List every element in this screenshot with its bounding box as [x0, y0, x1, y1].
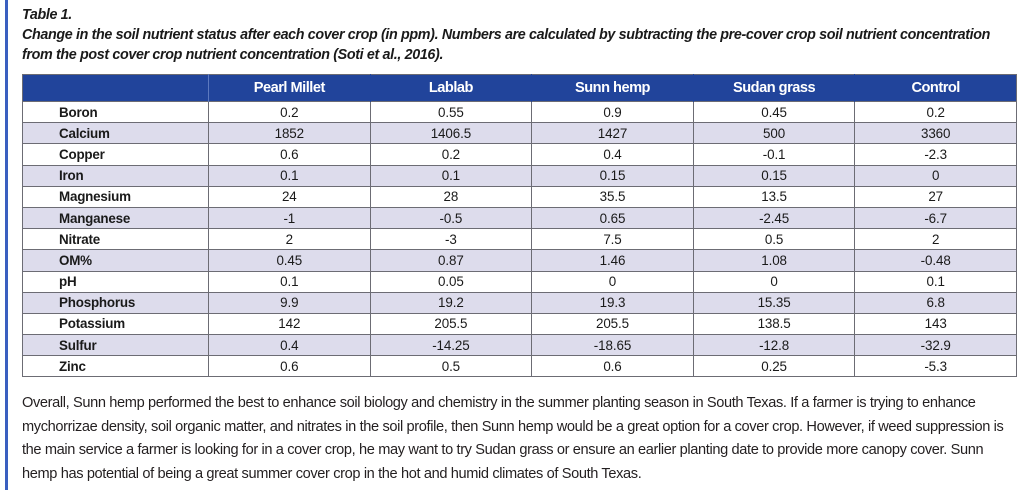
table-cell: 0.1: [370, 165, 532, 186]
table-cell: 0.05: [370, 271, 532, 292]
table-cell: -5.3: [855, 356, 1017, 377]
nutrient-change-table: Pearl Millet Lablab Sunn hemp Sudan gras…: [22, 74, 1017, 377]
table-row: Copper0.60.20.4-0.1-2.3: [23, 144, 1017, 165]
table-cell: -32.9: [855, 335, 1017, 356]
table-cell: 1427: [532, 123, 694, 144]
row-label: Boron: [23, 102, 209, 123]
table-cell: 0.4: [209, 335, 371, 356]
table-cell: 19.3: [532, 292, 694, 313]
table-cell: -0.5: [370, 207, 532, 228]
row-label: Manganese: [23, 207, 209, 228]
column-header-pearl-millet: Pearl Millet: [209, 75, 371, 102]
table-cell: -0.1: [693, 144, 855, 165]
table-cell: 0.15: [693, 165, 855, 186]
table-cell: 0.6: [209, 356, 371, 377]
row-label: OM%: [23, 250, 209, 271]
table-cell: 0.2: [855, 102, 1017, 123]
table-cell: 0.87: [370, 250, 532, 271]
table-cell: -6.7: [855, 207, 1017, 228]
table-cell: 0.45: [693, 102, 855, 123]
table-cell: 0: [532, 271, 694, 292]
table-cell: 2: [209, 229, 371, 250]
table-cell: 500: [693, 123, 855, 144]
table-header: Pearl Millet Lablab Sunn hemp Sudan gras…: [23, 75, 1017, 102]
table-cell: 0.5: [370, 356, 532, 377]
left-margin-rule: [5, 0, 8, 490]
table-row: Nitrate2-37.50.52: [23, 229, 1017, 250]
table-body: Boron0.20.550.90.450.2Calcium18521406.51…: [23, 102, 1017, 377]
table-cell: 205.5: [532, 313, 694, 334]
table-row: Phosphorus9.919.219.315.356.8: [23, 292, 1017, 313]
table-cell: 0.9: [532, 102, 694, 123]
summary-paragraph: Overall, Sunn hemp performed the best to…: [22, 392, 1014, 486]
table-row: Calcium18521406.514275003360: [23, 123, 1017, 144]
table-row: Zinc0.60.50.60.25-5.3: [23, 356, 1017, 377]
table-header-row: Pearl Millet Lablab Sunn hemp Sudan gras…: [23, 75, 1017, 102]
table-row: Sulfur0.4-14.25-18.65-12.8-32.9: [23, 335, 1017, 356]
table-cell: -18.65: [532, 335, 694, 356]
table-row: Manganese-1-0.50.65-2.45-6.7: [23, 207, 1017, 228]
row-label: Phosphorus: [23, 292, 209, 313]
table-cell: 0.1: [209, 165, 371, 186]
row-label: Calcium: [23, 123, 209, 144]
table-cell: 0.4: [532, 144, 694, 165]
table-cell: 27: [855, 186, 1017, 207]
column-header-blank: [23, 75, 209, 102]
table-cell: 1406.5: [370, 123, 532, 144]
table-cell: 19.2: [370, 292, 532, 313]
row-label: Zinc: [23, 356, 209, 377]
document-page: Table 1. Change in the soil nutrient sta…: [0, 0, 1030, 490]
table-cell: -3: [370, 229, 532, 250]
table-cell: 28: [370, 186, 532, 207]
table-cell: 0.2: [370, 144, 532, 165]
table-cell: 0.1: [855, 271, 1017, 292]
table-cell: -12.8: [693, 335, 855, 356]
table-cell: 142: [209, 313, 371, 334]
row-label: Iron: [23, 165, 209, 186]
table-row: Magnesium242835.513.527: [23, 186, 1017, 207]
table-cell: 0.5: [693, 229, 855, 250]
table-cell: 143: [855, 313, 1017, 334]
table-cell: 7.5: [532, 229, 694, 250]
table-cell: 1852: [209, 123, 371, 144]
table-cell: 13.5: [693, 186, 855, 207]
table-cell: 0.65: [532, 207, 694, 228]
column-header-sunn-hemp: Sunn hemp: [532, 75, 694, 102]
table-cell: 0.15: [532, 165, 694, 186]
table-cell: 0.45: [209, 250, 371, 271]
table-cell: 0.1: [209, 271, 371, 292]
table-cell: 35.5: [532, 186, 694, 207]
table-cell: -14.25: [370, 335, 532, 356]
table-cell: 1.08: [693, 250, 855, 271]
table-cell: -2.3: [855, 144, 1017, 165]
table-cell: -0.48: [855, 250, 1017, 271]
row-label: pH: [23, 271, 209, 292]
table-row: Potassium142205.5205.5138.5143: [23, 313, 1017, 334]
table-row: OM%0.450.871.461.08-0.48: [23, 250, 1017, 271]
table-row: pH0.10.05000.1: [23, 271, 1017, 292]
table-cell: 6.8: [855, 292, 1017, 313]
table-cell: 2: [855, 229, 1017, 250]
table-caption-text: Change in the soil nutrient status after…: [22, 25, 1002, 65]
table-row: Boron0.20.550.90.450.2: [23, 102, 1017, 123]
table-cell: 1.46: [532, 250, 694, 271]
row-label: Nitrate: [23, 229, 209, 250]
column-header-lablab: Lablab: [370, 75, 532, 102]
table-cell: 9.9: [209, 292, 371, 313]
table-cell: 0.6: [209, 144, 371, 165]
column-header-control: Control: [855, 75, 1017, 102]
row-label: Potassium: [23, 313, 209, 334]
table-cell: -1: [209, 207, 371, 228]
table-row: Iron0.10.10.150.150: [23, 165, 1017, 186]
table-cell: 0.55: [370, 102, 532, 123]
table-cell: -2.45: [693, 207, 855, 228]
page-content: Table 1. Change in the soil nutrient sta…: [22, 0, 1018, 490]
table-cell: 0: [855, 165, 1017, 186]
table-cell: 24: [209, 186, 371, 207]
table-cell: 138.5: [693, 313, 855, 334]
table-cell: 3360: [855, 123, 1017, 144]
row-label: Magnesium: [23, 186, 209, 207]
row-label: Copper: [23, 144, 209, 165]
table-cell: 0: [693, 271, 855, 292]
table-cell: 0.25: [693, 356, 855, 377]
table-cell: 0.2: [209, 102, 371, 123]
table-caption-label: Table 1.: [22, 0, 1018, 25]
table-cell: 0.6: [532, 356, 694, 377]
table-cell: 15.35: [693, 292, 855, 313]
row-label: Sulfur: [23, 335, 209, 356]
table-cell: 205.5: [370, 313, 532, 334]
column-header-sudan-grass: Sudan grass: [693, 75, 855, 102]
